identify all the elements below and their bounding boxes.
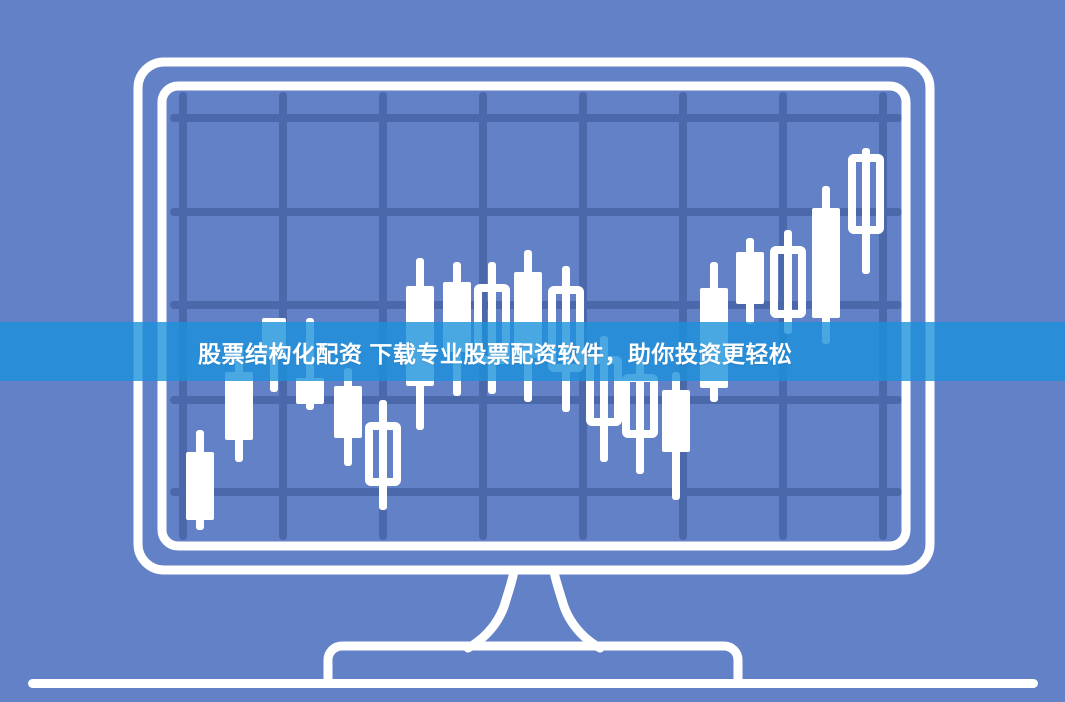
promo-banner[interactable]: 股票结构化配资 下载专业股票配资软件，助你投资更轻松 [0, 322, 1065, 381]
monitor-stand-neck-right [554, 570, 600, 648]
screen-contents [174, 96, 898, 536]
promo-banner-text: 股票结构化配资 下载专业股票配资软件，助你投资更轻松 [198, 335, 792, 369]
page-root: 股票结构化配资 下载专业股票配资软件，助你投资更轻松 [0, 0, 1065, 702]
candle-16 [736, 238, 764, 324]
candle-1 [186, 430, 214, 530]
monitor-stand-neck-left [468, 570, 514, 648]
candle-17 [774, 230, 802, 334]
candle-5 [334, 368, 362, 466]
candle-18 [812, 186, 840, 344]
floor-line [28, 679, 1038, 688]
monitor-stand-base [328, 646, 738, 684]
